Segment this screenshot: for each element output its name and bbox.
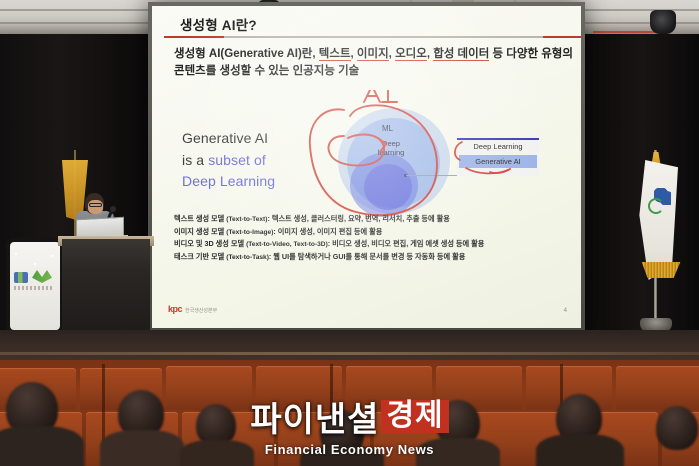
eyeglasses-icon bbox=[89, 203, 102, 207]
title-divider bbox=[164, 36, 581, 38]
generative-ai-statement: Generative AI is a subset of Deep Learni… bbox=[182, 128, 332, 193]
detail-ko-head: 이미지 생성 모델 bbox=[174, 227, 226, 236]
title-divider-accent-right bbox=[543, 36, 581, 39]
body-underline-1: 텍스트 bbox=[319, 48, 351, 61]
callout-row-generative-ai: Generative AI bbox=[459, 155, 537, 168]
detail-ko-head: 태스크 기반 모델 bbox=[174, 252, 226, 261]
projection-screen-frame: 생성형 AI란? 생성형 AI(Generative AI)란, 텍스트, 이미… bbox=[148, 2, 585, 332]
detail-ko-head: 텍스트 생성 모델 bbox=[174, 214, 226, 223]
body-sep-1: , bbox=[351, 48, 357, 60]
presentation-photo: 생성형 AI란? 생성형 AI(Generative AI)란, 텍스트, 이미… bbox=[0, 0, 699, 466]
signage-caption bbox=[14, 286, 54, 290]
body-pre: 생성형 AI(Generative AI)란, bbox=[174, 48, 319, 60]
venn-label-ml: ML bbox=[382, 124, 393, 133]
statement-line-1: Generative AI bbox=[182, 128, 332, 150]
audience-member-shoulders bbox=[180, 440, 254, 466]
detail-line: 텍스트 생성 모델 (Text-to-Text): 텍스트 생성, 클러스터링,… bbox=[174, 213, 579, 226]
callout-top-rule bbox=[457, 138, 539, 140]
body-underline-3: 오디오 bbox=[395, 48, 427, 61]
auditorium-seat bbox=[166, 366, 252, 410]
signage-logo-blue bbox=[14, 272, 28, 283]
detail-en-tag: (Text-to-Text) bbox=[226, 216, 267, 223]
statement-accent-1: subset of bbox=[208, 152, 266, 168]
audience-member-shoulders bbox=[0, 426, 84, 466]
venn-circle-generative-ai bbox=[364, 164, 412, 210]
slide-footer-logo: kpc 한국생산성본부 bbox=[168, 304, 217, 314]
detail-ko-head: 비디오 및 3D 생성 모델 bbox=[174, 239, 246, 248]
slide-page-number: 4 bbox=[564, 308, 567, 314]
detail-en-tag: (Text-to-Image) bbox=[226, 229, 273, 236]
slide-surface: 생성형 AI란? 생성형 AI(Generative AI)란, 텍스트, 이미… bbox=[152, 6, 581, 328]
audience-area bbox=[0, 360, 699, 466]
detail-en-tag: (Text-to-Video, Text-to-3D) bbox=[246, 241, 328, 248]
detail-line: 이미지 생성 모델 (Text-to-Image): 이미지 생성, 이미지 편… bbox=[174, 226, 579, 239]
kpc-logo-mark: kpc bbox=[168, 304, 182, 314]
stage-light-icon bbox=[650, 10, 676, 34]
slide-detail-list: 텍스트 생성 모델 (Text-to-Text): 텍스트 생성, 클러스터링,… bbox=[174, 213, 579, 264]
detail-line: 비디오 및 3D 생성 모델 (Text-to-Video, Text-to-3… bbox=[174, 238, 579, 251]
statement-plain: is a bbox=[182, 152, 208, 168]
detail-ko-body: : 비디오 생성, 비디오 편집, 게임 에셋 생성 등에 활용 bbox=[328, 239, 485, 248]
stage-curtain-right bbox=[585, 34, 699, 334]
audience-member-shoulders bbox=[416, 438, 500, 466]
callout-box: Deep Learning Generative AI bbox=[457, 138, 539, 176]
title-divider-accent-left bbox=[164, 36, 224, 39]
kpc-logo-text: 한국생산성본부 bbox=[185, 307, 217, 314]
callout-row-deep-learning: Deep Learning bbox=[457, 142, 539, 151]
audience-member-shoulders bbox=[100, 430, 184, 466]
slide-body-text: 생성형 AI(Generative AI)란, 텍스트, 이미지, 오디오, 합… bbox=[174, 46, 574, 79]
statement-accent-2: Deep Learning bbox=[182, 171, 332, 193]
venn-label-deep-learning: Deep learning bbox=[368, 139, 414, 158]
podium-icon bbox=[62, 239, 150, 339]
flag-logo-green-arc bbox=[648, 198, 664, 214]
body-underline-4: 합성 데이터 bbox=[433, 48, 489, 61]
slide-title: 생성형 AI란? bbox=[180, 14, 257, 34]
stage-edge bbox=[0, 352, 699, 355]
audience-member-shoulders bbox=[300, 446, 384, 466]
audience-member-head bbox=[656, 406, 698, 450]
auditorium-seat bbox=[346, 366, 432, 410]
auditorium-seat bbox=[616, 366, 699, 410]
venn-diagram: ML Deep learning bbox=[338, 98, 458, 216]
detail-line: 태스크 기반 모델 (Text-to-Task): 웹 UI를 탐색하거나 GU… bbox=[174, 251, 579, 264]
audience-member-shoulders bbox=[536, 434, 624, 466]
statement-line-2: is a subset of bbox=[182, 150, 332, 172]
detail-en-tag: (Text-to-Task) bbox=[226, 254, 269, 261]
body-underline-2: 이미지 bbox=[357, 48, 389, 61]
microphone-head bbox=[110, 206, 116, 212]
detail-ko-body: : 웹 UI를 탐색하거나 GUI를 통해 문서를 변경 등 자동화 등에 활용 bbox=[269, 252, 465, 261]
detail-ko-body: : 텍스트 생성, 클러스터링, 요약, 번역, 리서치, 추출 등에 활용 bbox=[267, 214, 449, 223]
detail-ko-body: : 이미지 생성, 이미지 편집 등에 활용 bbox=[273, 227, 382, 236]
